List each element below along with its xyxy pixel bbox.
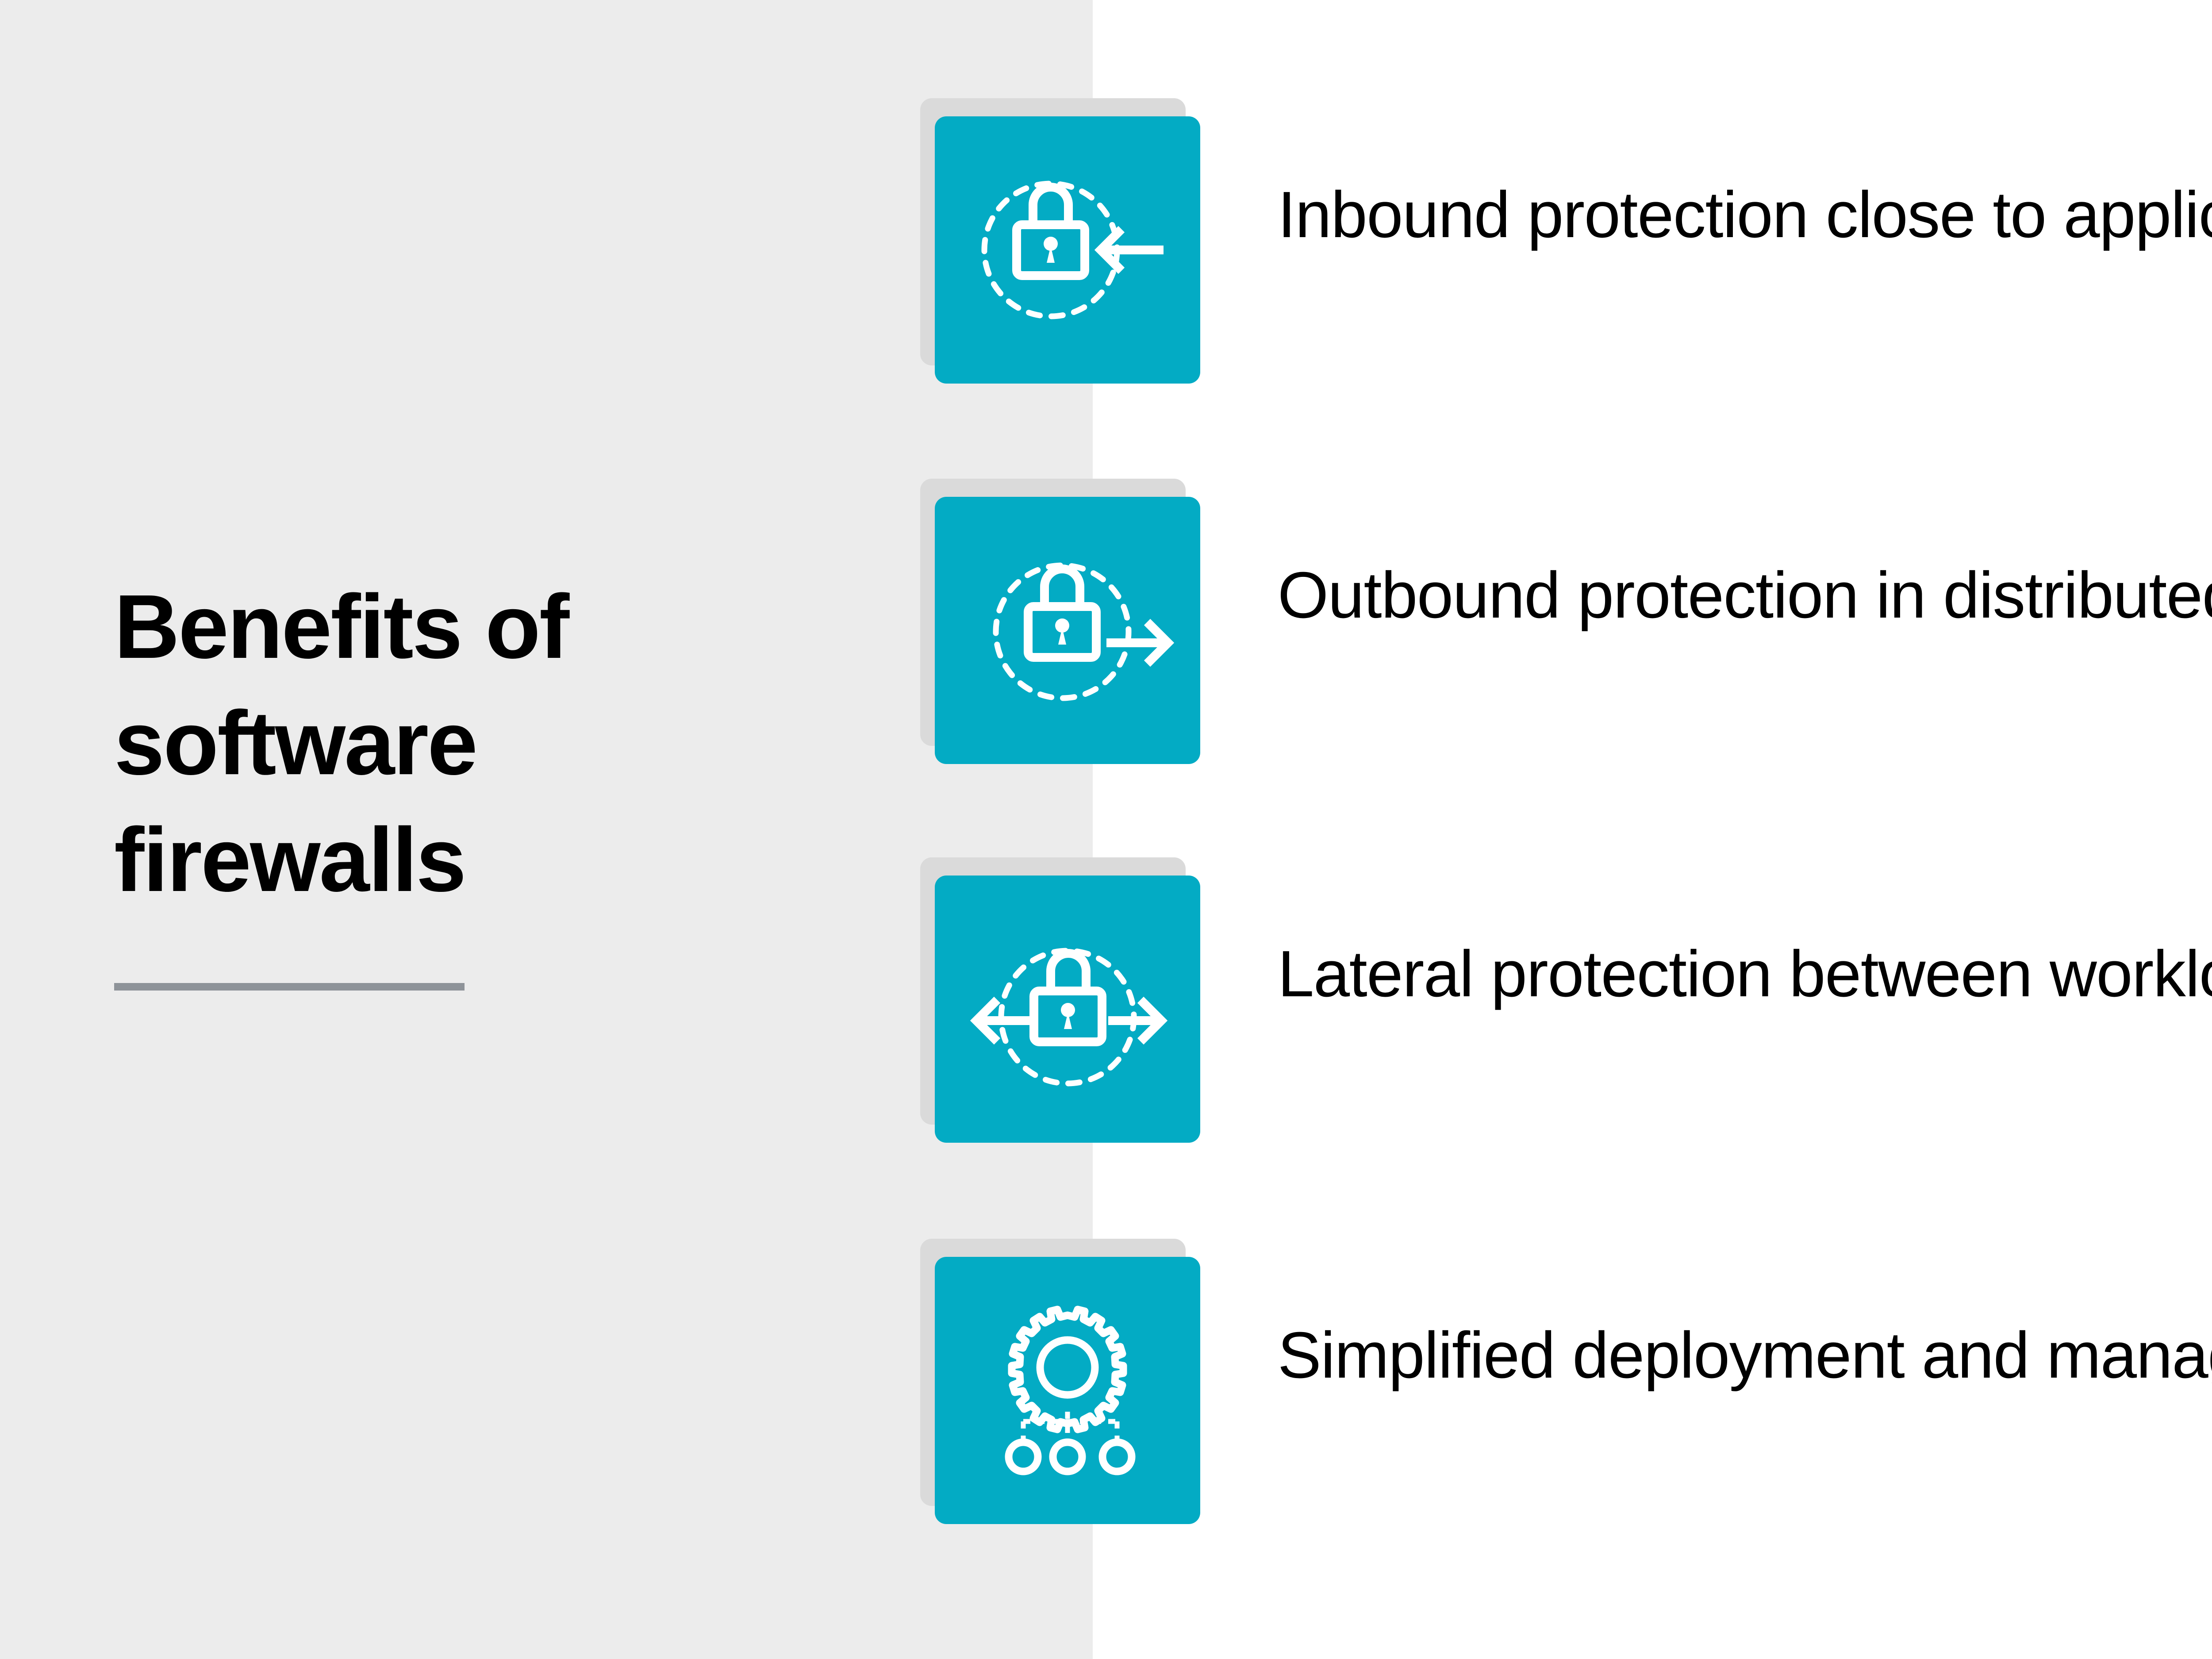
tile-inbound [935, 116, 1200, 384]
benefit-label: Simplified deployment and management. [1278, 1323, 2212, 1388]
benefit-row: Inbound protection close to applications… [0, 98, 2212, 368]
benefit-tile-management [920, 1239, 1203, 1526]
benefit-row: Simplified deployment and management. [0, 1239, 2212, 1509]
benefit-label: Lateral protection between workloads. [1278, 941, 2212, 1007]
benefit-label: Inbound protection close to applications… [1278, 182, 2212, 248]
tile-lateral [935, 876, 1200, 1143]
tile-management [935, 1257, 1200, 1524]
benefit-row: Outbound protection in distributed envir… [0, 479, 2212, 749]
lateral-protection-icon [935, 876, 1200, 1143]
inbound-protection-icon [935, 116, 1200, 384]
benefit-tile-lateral [920, 857, 1203, 1145]
benefit-row: Lateral protection between workloads. [0, 857, 2212, 1127]
benefit-label: Outbound protection in distributed envir… [1278, 563, 2212, 628]
tile-outbound [935, 497, 1200, 764]
benefit-tile-outbound [920, 479, 1203, 766]
outbound-protection-icon [935, 497, 1200, 764]
gear-icon [1012, 1310, 1123, 1429]
gear-hierarchy-nodes-icon [935, 1257, 1200, 1524]
benefit-tile-inbound [920, 98, 1203, 386]
node-circles [1009, 1442, 1132, 1471]
